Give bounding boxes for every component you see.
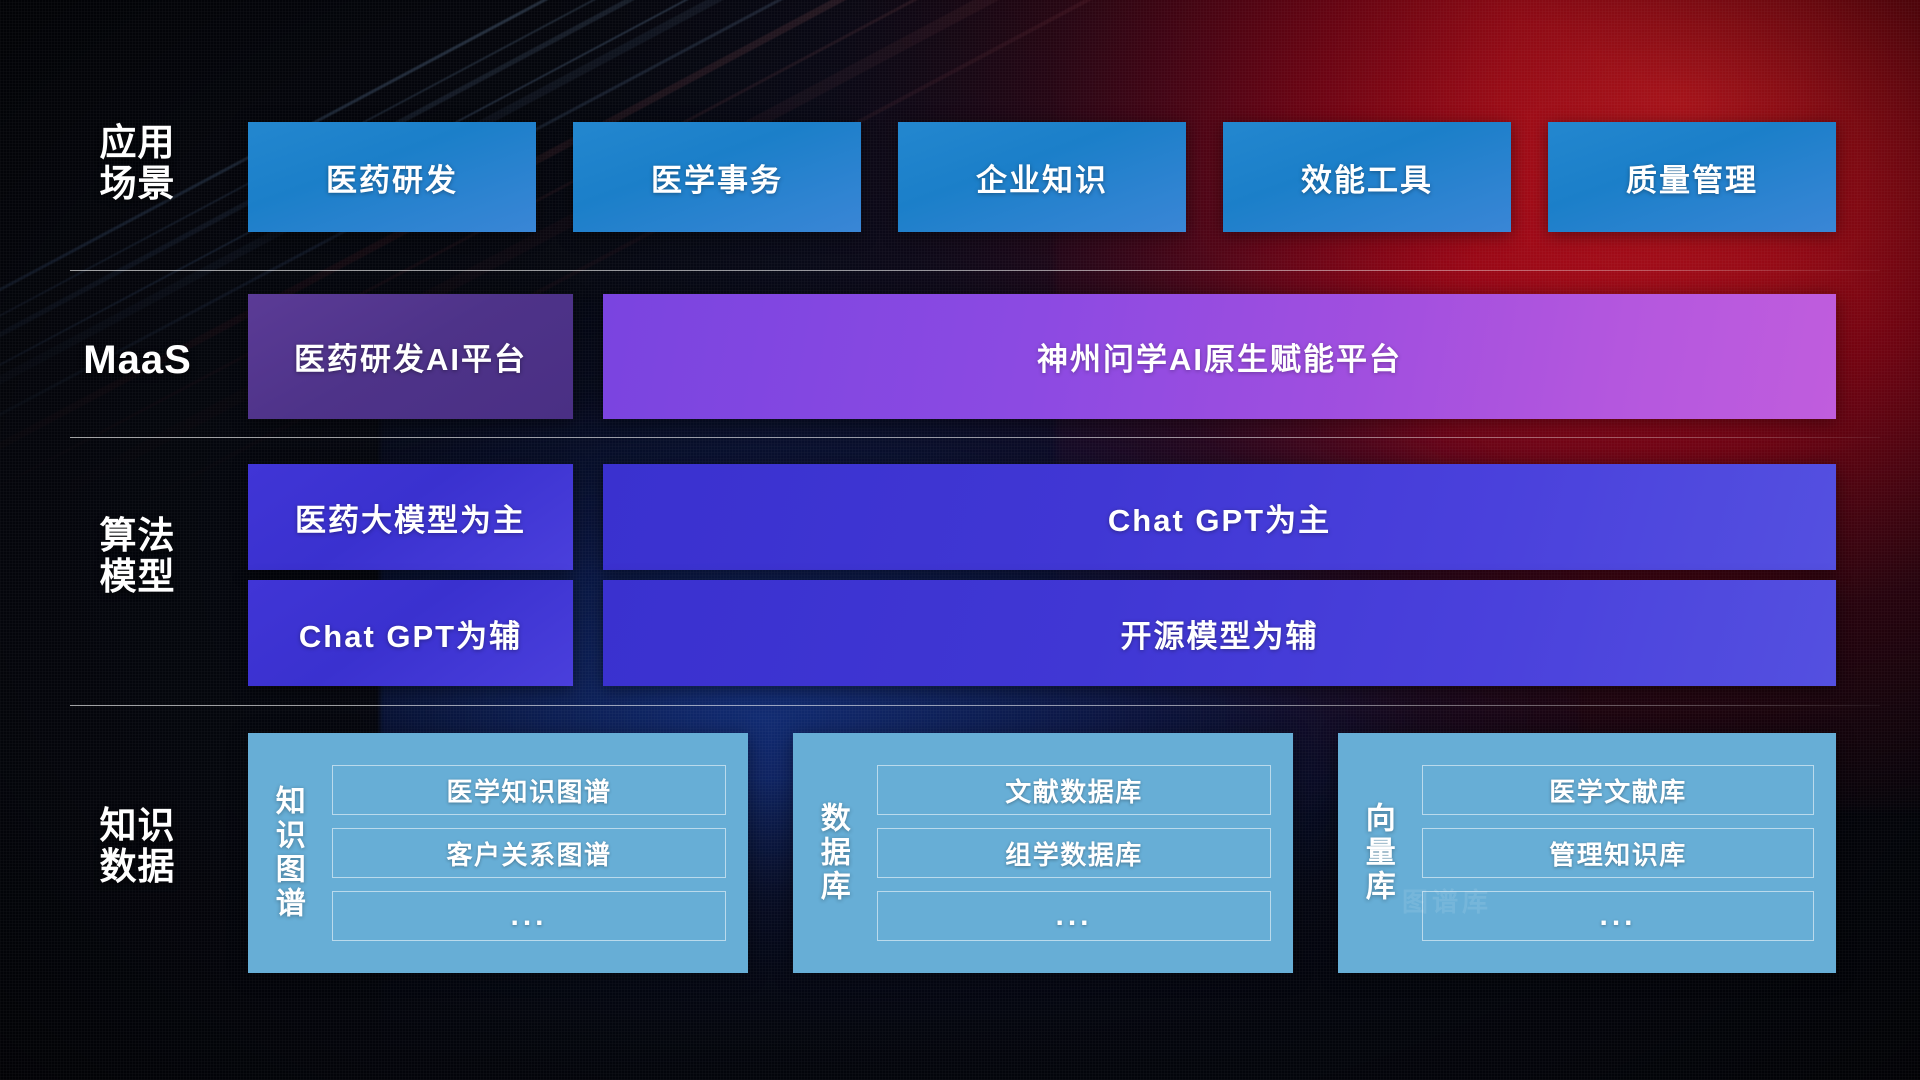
knowledge-group-items-knowledge-graph: 医学知识图谱 客户关系图谱 ...	[326, 733, 748, 973]
knowledge-group-items-vector-store: 医学文献库 管理知识库 ...	[1416, 733, 1836, 973]
app-box-enterprise-knowledge[interactable]: 企业知识	[898, 122, 1186, 232]
app-box-quality-management[interactable]: 质量管理	[1548, 122, 1836, 232]
knowledge-item-more-vector-store[interactable]: ...	[1422, 891, 1814, 941]
maas-box-shenzhou-wenxue-platform[interactable]: 神州问学AI原生赋能平台	[603, 294, 1836, 419]
algo-box-chatgpt-secondary[interactable]: Chat GPT为辅	[248, 580, 573, 686]
knowledge-item-omics-database[interactable]: 组学数据库	[877, 828, 1271, 878]
algo-box-medicine-large-model-primary[interactable]: 医药大模型为主	[248, 464, 573, 570]
knowledge-group-title-database: 数据库	[793, 733, 871, 973]
algo-box-opensource-secondary[interactable]: 开源模型为辅	[603, 580, 1836, 686]
row-label-maas: MaaS	[70, 338, 205, 383]
knowledge-item-literature-database[interactable]: 文献数据库	[877, 765, 1271, 815]
knowledge-item-customer-relation-graph[interactable]: 客户关系图谱	[332, 828, 726, 878]
knowledge-group-vector-store[interactable]: 向量库 医学文献库 管理知识库 ...	[1338, 733, 1836, 973]
knowledge-item-more-knowledge-graph[interactable]: ...	[332, 891, 726, 941]
app-box-efficiency-tools[interactable]: 效能工具	[1223, 122, 1511, 232]
divider-after-algorithm-model	[70, 705, 1880, 706]
app-box-medical-affairs[interactable]: 医学事务	[573, 122, 861, 232]
knowledge-group-items-database: 文献数据库 组学数据库 ...	[871, 733, 1293, 973]
knowledge-group-knowledge-graph[interactable]: 知识图谱 医学知识图谱 客户关系图谱 ...	[248, 733, 748, 973]
divider-after-maas	[70, 437, 1880, 438]
knowledge-group-database[interactable]: 数据库 文献数据库 组学数据库 ...	[793, 733, 1293, 973]
maas-box-medicine-ai-platform[interactable]: 医药研发AI平台	[248, 294, 573, 419]
algo-box-chatgpt-primary[interactable]: Chat GPT为主	[603, 464, 1836, 570]
knowledge-item-management-knowledge-store[interactable]: 管理知识库	[1422, 828, 1814, 878]
knowledge-item-more-database[interactable]: ...	[877, 891, 1271, 941]
slide-canvas: 应用 场景 医药研发 医学事务 企业知识 效能工具 质量管理 MaaS 医药研发…	[0, 0, 1920, 1080]
knowledge-item-medical-knowledge-graph[interactable]: 医学知识图谱	[332, 765, 726, 815]
row-label-application-scenario: 应用 场景	[70, 122, 205, 205]
knowledge-group-title-vector-store: 向量库	[1338, 733, 1416, 973]
knowledge-group-title-knowledge-graph: 知识图谱	[248, 733, 326, 973]
row-label-knowledge-data: 知识 数据	[70, 805, 205, 888]
row-label-algorithm-model: 算法 模型	[70, 515, 205, 598]
app-box-medicine-rnd[interactable]: 医药研发	[248, 122, 536, 232]
knowledge-item-medical-literature-store[interactable]: 医学文献库	[1422, 765, 1814, 815]
divider-after-application-scenario	[70, 270, 1880, 271]
